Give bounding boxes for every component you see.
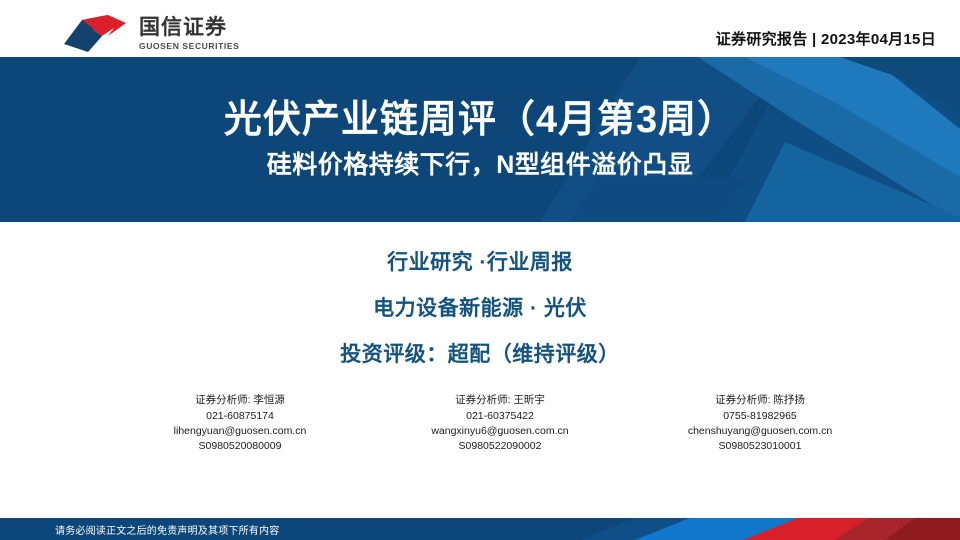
analyst-phone[interactable]: 021-60375422 — [466, 410, 534, 422]
logo-chinese-name: 国信证券 — [139, 17, 239, 39]
guosen-arrow-logo-icon — [62, 14, 130, 54]
page-header: 国信证券 GUOSEN SECURITIES 证券研究报告 | 2023年04月… — [0, 0, 960, 57]
research-category: 行业研究 ·行业周报 — [387, 246, 573, 276]
analyst-email[interactable]: lihengyuan@guosen.com.cn — [174, 425, 307, 437]
brand-logo[interactable]: 国信证券 GUOSEN SECURITIES — [62, 14, 239, 54]
page-footer: 请务必阅读正文之后的免责声明及其项下所有内容 — [0, 518, 960, 540]
title-banner: 光伏产业链周评（4月第3周） 硅料价格持续下行，N型组件溢价凸显 — [0, 57, 960, 222]
industry-sector: 电力设备新能源 · 光伏 — [373, 292, 587, 322]
analyst-card: 证券分析师: 李恒源 021-60875174 lihengyuan@guose… — [130, 392, 350, 452]
analyst-license: S0980523010001 — [719, 440, 802, 452]
investment-rating: 投资评级：超配（维持评级） — [340, 338, 620, 368]
analyst-name: 证券分析师: 陈抒扬 — [715, 392, 805, 407]
banner-text-block: 光伏产业链周评（4月第3周） 硅料价格持续下行，N型组件溢价凸显 — [0, 57, 960, 222]
report-type-and-date: 证券研究报告 | 2023年04月15日 — [716, 28, 936, 49]
analyst-email[interactable]: wangxinyu6@guosen.com.cn — [431, 425, 568, 437]
analyst-name: 证券分析师: 王昕宇 — [455, 392, 545, 407]
footer-disclaimer: 请务必阅读正文之后的免责声明及其项下所有内容 — [55, 522, 279, 537]
logo-english-name: GUOSEN SECURITIES — [139, 41, 239, 51]
report-subtitle: 硅料价格持续下行，N型组件溢价凸显 — [267, 152, 694, 180]
analyst-email[interactable]: chenshuyang@guosen.com.cn — [688, 425, 832, 437]
analyst-list: 证券分析师: 李恒源 021-60875174 lihengyuan@guose… — [130, 392, 870, 452]
analyst-name: 证券分析师: 李恒源 — [195, 392, 285, 407]
analyst-license: S0980520080009 — [199, 440, 282, 452]
footer-stripe-decoration-icon — [540, 518, 960, 540]
analyst-license: S0980522090002 — [459, 440, 542, 452]
analyst-card: 证券分析师: 陈抒扬 0755-81982965 chenshuyang@guo… — [650, 392, 870, 452]
report-title: 光伏产业链周评（4月第3周） — [224, 100, 736, 142]
logo-text-block: 国信证券 GUOSEN SECURITIES — [139, 17, 239, 51]
analyst-phone[interactable]: 0755-81982965 — [723, 410, 797, 422]
analyst-card: 证券分析师: 王昕宇 021-60375422 wangxinyu6@guose… — [390, 392, 610, 452]
category-block: 行业研究 ·行业周报 电力设备新能源 · 光伏 投资评级：超配（维持评级） — [0, 246, 960, 368]
analyst-phone[interactable]: 021-60875174 — [206, 410, 274, 422]
main-content: 行业研究 ·行业周报 电力设备新能源 · 光伏 投资评级：超配（维持评级） 证券… — [0, 222, 960, 518]
